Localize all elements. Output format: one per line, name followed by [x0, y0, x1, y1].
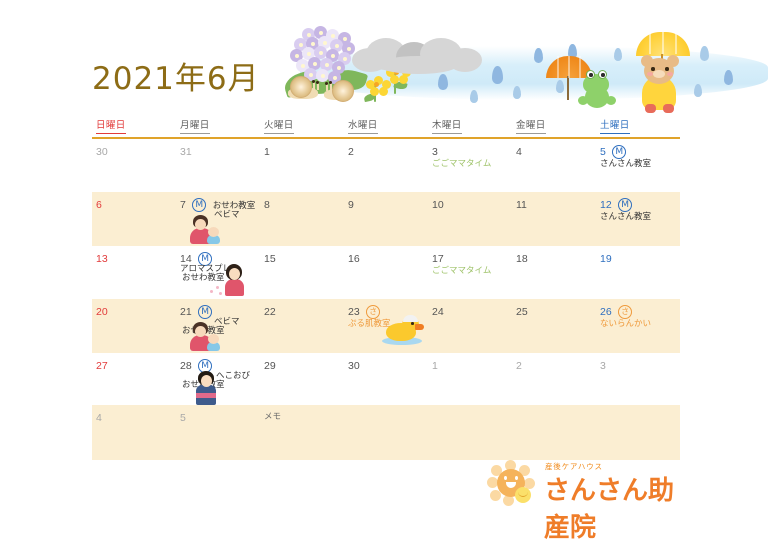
day-cell[interactable]: 9 — [344, 192, 428, 246]
weekday-header-saturday: 土曜日 — [596, 117, 680, 136]
raindrop-icon — [614, 48, 622, 61]
day-cell[interactable]: メモ — [260, 405, 344, 460]
day-number: 5 — [180, 412, 186, 424]
weekday-label: 月曜日 — [180, 117, 210, 134]
calendar-week-row: 6 7 M おせわ教室 ベビマ 8 9 10 11 12 M さんさん教室 — [92, 192, 680, 246]
weekday-label: 木曜日 — [432, 117, 462, 134]
weekday-label: 金曜日 — [516, 117, 546, 134]
day-number: 31 — [180, 146, 192, 158]
day-number: 16 — [348, 253, 360, 265]
day-number: 1 — [264, 146, 270, 158]
day-number: 21 — [180, 306, 192, 318]
day-number: 19 — [600, 253, 612, 265]
day-cell[interactable]: 26 さ ないらんかい — [596, 299, 680, 353]
lady-with-spray-icon — [222, 264, 248, 296]
frog-icon — [578, 66, 618, 108]
kimono-lady-icon — [194, 371, 220, 405]
logo-brand-name: さんさん助産院 — [544, 470, 687, 543]
day-cell[interactable]: 29 — [260, 353, 344, 405]
day-number: 18 — [516, 253, 528, 265]
day-cell[interactable]: 5 M さんさん教室 — [596, 139, 680, 192]
memo-label: メモ — [264, 410, 281, 422]
day-cell[interactable]: 16 — [344, 246, 428, 299]
raindrop-icon — [700, 46, 709, 61]
calendar-week-row: 13 14 M おせわ教室 アロマスプレー 15 16 17 ごごママタイム 1… — [92, 246, 680, 299]
mom-and-baby-icon — [190, 322, 224, 352]
weekday-label: 火曜日 — [264, 117, 294, 134]
day-number: 4 — [516, 146, 522, 158]
day-number: 3 — [432, 146, 438, 158]
event-label: さんさん教室 — [600, 157, 651, 169]
raindrop-icon — [438, 74, 448, 90]
day-cell[interactable] — [344, 405, 428, 460]
day-cell[interactable]: 2 — [344, 139, 428, 192]
day-cell[interactable]: 17 ごごママタイム — [428, 246, 512, 299]
day-cell[interactable]: 21 M おせわ教室 ベビマ — [176, 299, 260, 353]
raindrop-icon — [724, 70, 733, 85]
weekday-header-row: 日曜日 月曜日 火曜日 水曜日 木曜日 金曜日 土曜日 — [92, 117, 680, 136]
day-cell[interactable]: 13 — [92, 246, 176, 299]
raindrop-icon — [513, 86, 521, 99]
day-number: 10 — [432, 199, 444, 211]
day-number: 2 — [348, 146, 354, 158]
day-cell[interactable] — [512, 405, 596, 460]
day-number: 12 — [600, 199, 612, 211]
event-label: ないらんかい — [600, 317, 651, 329]
day-number: 17 — [432, 253, 444, 265]
day-cell[interactable]: 23 さ ぷる肌教室 — [344, 299, 428, 353]
day-cell[interactable]: 24 — [428, 299, 512, 353]
day-number: 25 — [516, 306, 528, 318]
class-m-badge-icon: M — [192, 198, 206, 212]
day-number: 13 — [96, 253, 108, 265]
day-cell[interactable]: 1 — [260, 139, 344, 192]
day-cell[interactable]: 5 — [176, 405, 260, 460]
day-cell[interactable] — [596, 405, 680, 460]
mom-and-baby-icon — [190, 215, 224, 245]
day-cell[interactable]: 31 — [176, 139, 260, 192]
day-cell[interactable]: 19 — [596, 246, 680, 299]
calendar-week-row: 20 21 M おせわ教室 ベビマ 22 23 さ ぷる肌教室 — [92, 299, 680, 353]
event-sublabel: へこおび — [216, 369, 250, 381]
day-number: 5 — [600, 146, 606, 158]
day-cell[interactable]: 1 — [428, 353, 512, 405]
day-number: 22 — [264, 306, 276, 318]
bear-icon — [632, 52, 688, 114]
day-cell[interactable]: 30 — [92, 139, 176, 192]
weekday-header-wednesday: 水曜日 — [344, 117, 428, 136]
day-cell[interactable]: 14 M おせわ教室 アロマスプレー — [176, 246, 260, 299]
day-cell[interactable]: 25 — [512, 299, 596, 353]
smiling-sun-icon — [487, 460, 535, 508]
day-cell[interactable]: 12 M さんさん教室 — [596, 192, 680, 246]
event-label: ごごママタイム — [432, 264, 491, 276]
day-cell[interactable]: 4 — [92, 405, 176, 460]
day-number: 11 — [516, 199, 527, 211]
clinic-logo: 産後ケアハウス さんさん助産院 — [487, 455, 687, 513]
day-number: 7 — [180, 199, 186, 211]
raindrop-icon — [492, 66, 503, 84]
weekday-label: 水曜日 — [348, 117, 378, 134]
day-number: 23 — [348, 306, 360, 318]
weekday-header-tuesday: 火曜日 — [260, 117, 344, 136]
rubber-duck-icon — [380, 317, 424, 345]
day-cell[interactable]: 15 — [260, 246, 344, 299]
weekday-header-friday: 金曜日 — [512, 117, 596, 136]
snail-icon — [288, 76, 322, 100]
weekday-header-sunday: 日曜日 — [92, 117, 176, 136]
day-number: 30 — [96, 146, 108, 158]
day-cell[interactable]: 3 — [596, 353, 680, 405]
day-cell[interactable]: 8 — [260, 192, 344, 246]
raindrop-icon — [470, 90, 478, 103]
day-cell[interactable] — [428, 405, 512, 460]
day-cell[interactable]: 4 — [512, 139, 596, 192]
day-number: 2 — [516, 360, 522, 372]
day-number: 30 — [348, 360, 360, 372]
day-cell[interactable]: 11 — [512, 192, 596, 246]
day-number: 26 — [600, 306, 612, 318]
day-cell[interactable]: 28 M おせわ教室 へこおび — [176, 353, 260, 405]
snail-icon — [322, 80, 356, 102]
day-number: 20 — [96, 306, 108, 318]
day-cell[interactable]: 30 — [344, 353, 428, 405]
event-label: ごごママタイム — [432, 157, 491, 169]
class-m-badge-icon: M — [198, 305, 212, 319]
day-cell[interactable]: 22 — [260, 299, 344, 353]
calendar-week-row: 27 28 M おせわ教室 へこおび 29 30 1 2 3 — [92, 353, 680, 405]
day-number: 4 — [96, 412, 102, 424]
day-cell[interactable]: 6 — [92, 192, 176, 246]
event-label: さんさん教室 — [600, 210, 651, 222]
day-number: 8 — [264, 199, 270, 211]
raindrop-icon — [556, 80, 564, 93]
day-number: 29 — [264, 360, 276, 372]
calendar-week-row: 30 31 1 2 3 ごごママタイム 4 5 M さんさん教室 — [92, 139, 680, 192]
calendar-page: 日曜日 月曜日 火曜日 水曜日 木曜日 金曜日 土曜日 2021年6月 30 3… — [0, 0, 768, 543]
day-cell[interactable]: 7 M おせわ教室 ベビマ — [176, 192, 260, 246]
weekday-label: 日曜日 — [96, 117, 126, 134]
calendar-grid: 30 31 1 2 3 ごごママタイム 4 5 M さんさん教室 6 7 M お… — [92, 139, 680, 460]
weekday-label: 土曜日 — [600, 117, 630, 134]
day-cell[interactable]: 18 — [512, 246, 596, 299]
day-number: 1 — [432, 360, 438, 372]
day-number: 27 — [96, 360, 108, 372]
day-cell[interactable]: 20 — [92, 299, 176, 353]
raindrop-icon — [694, 84, 702, 97]
day-cell[interactable]: 10 — [428, 192, 512, 246]
weekday-header-thursday: 木曜日 — [428, 117, 512, 136]
rain-cloud-icon — [352, 36, 482, 72]
day-number: 24 — [432, 306, 444, 318]
calendar-week-row: 4 5 メモ — [92, 405, 680, 460]
day-cell[interactable]: 2 — [512, 353, 596, 405]
day-cell[interactable]: 27 — [92, 353, 176, 405]
page-title: 2021年6月 — [92, 53, 260, 98]
day-cell[interactable]: 3 ごごママタイム — [428, 139, 512, 192]
day-number: 6 — [96, 199, 102, 211]
day-number: 28 — [180, 360, 192, 372]
raindrop-icon — [534, 48, 543, 63]
day-number: 15 — [264, 253, 276, 265]
weekday-header-monday: 月曜日 — [176, 117, 260, 136]
day-number: 3 — [600, 360, 606, 372]
day-number: 9 — [348, 199, 354, 211]
